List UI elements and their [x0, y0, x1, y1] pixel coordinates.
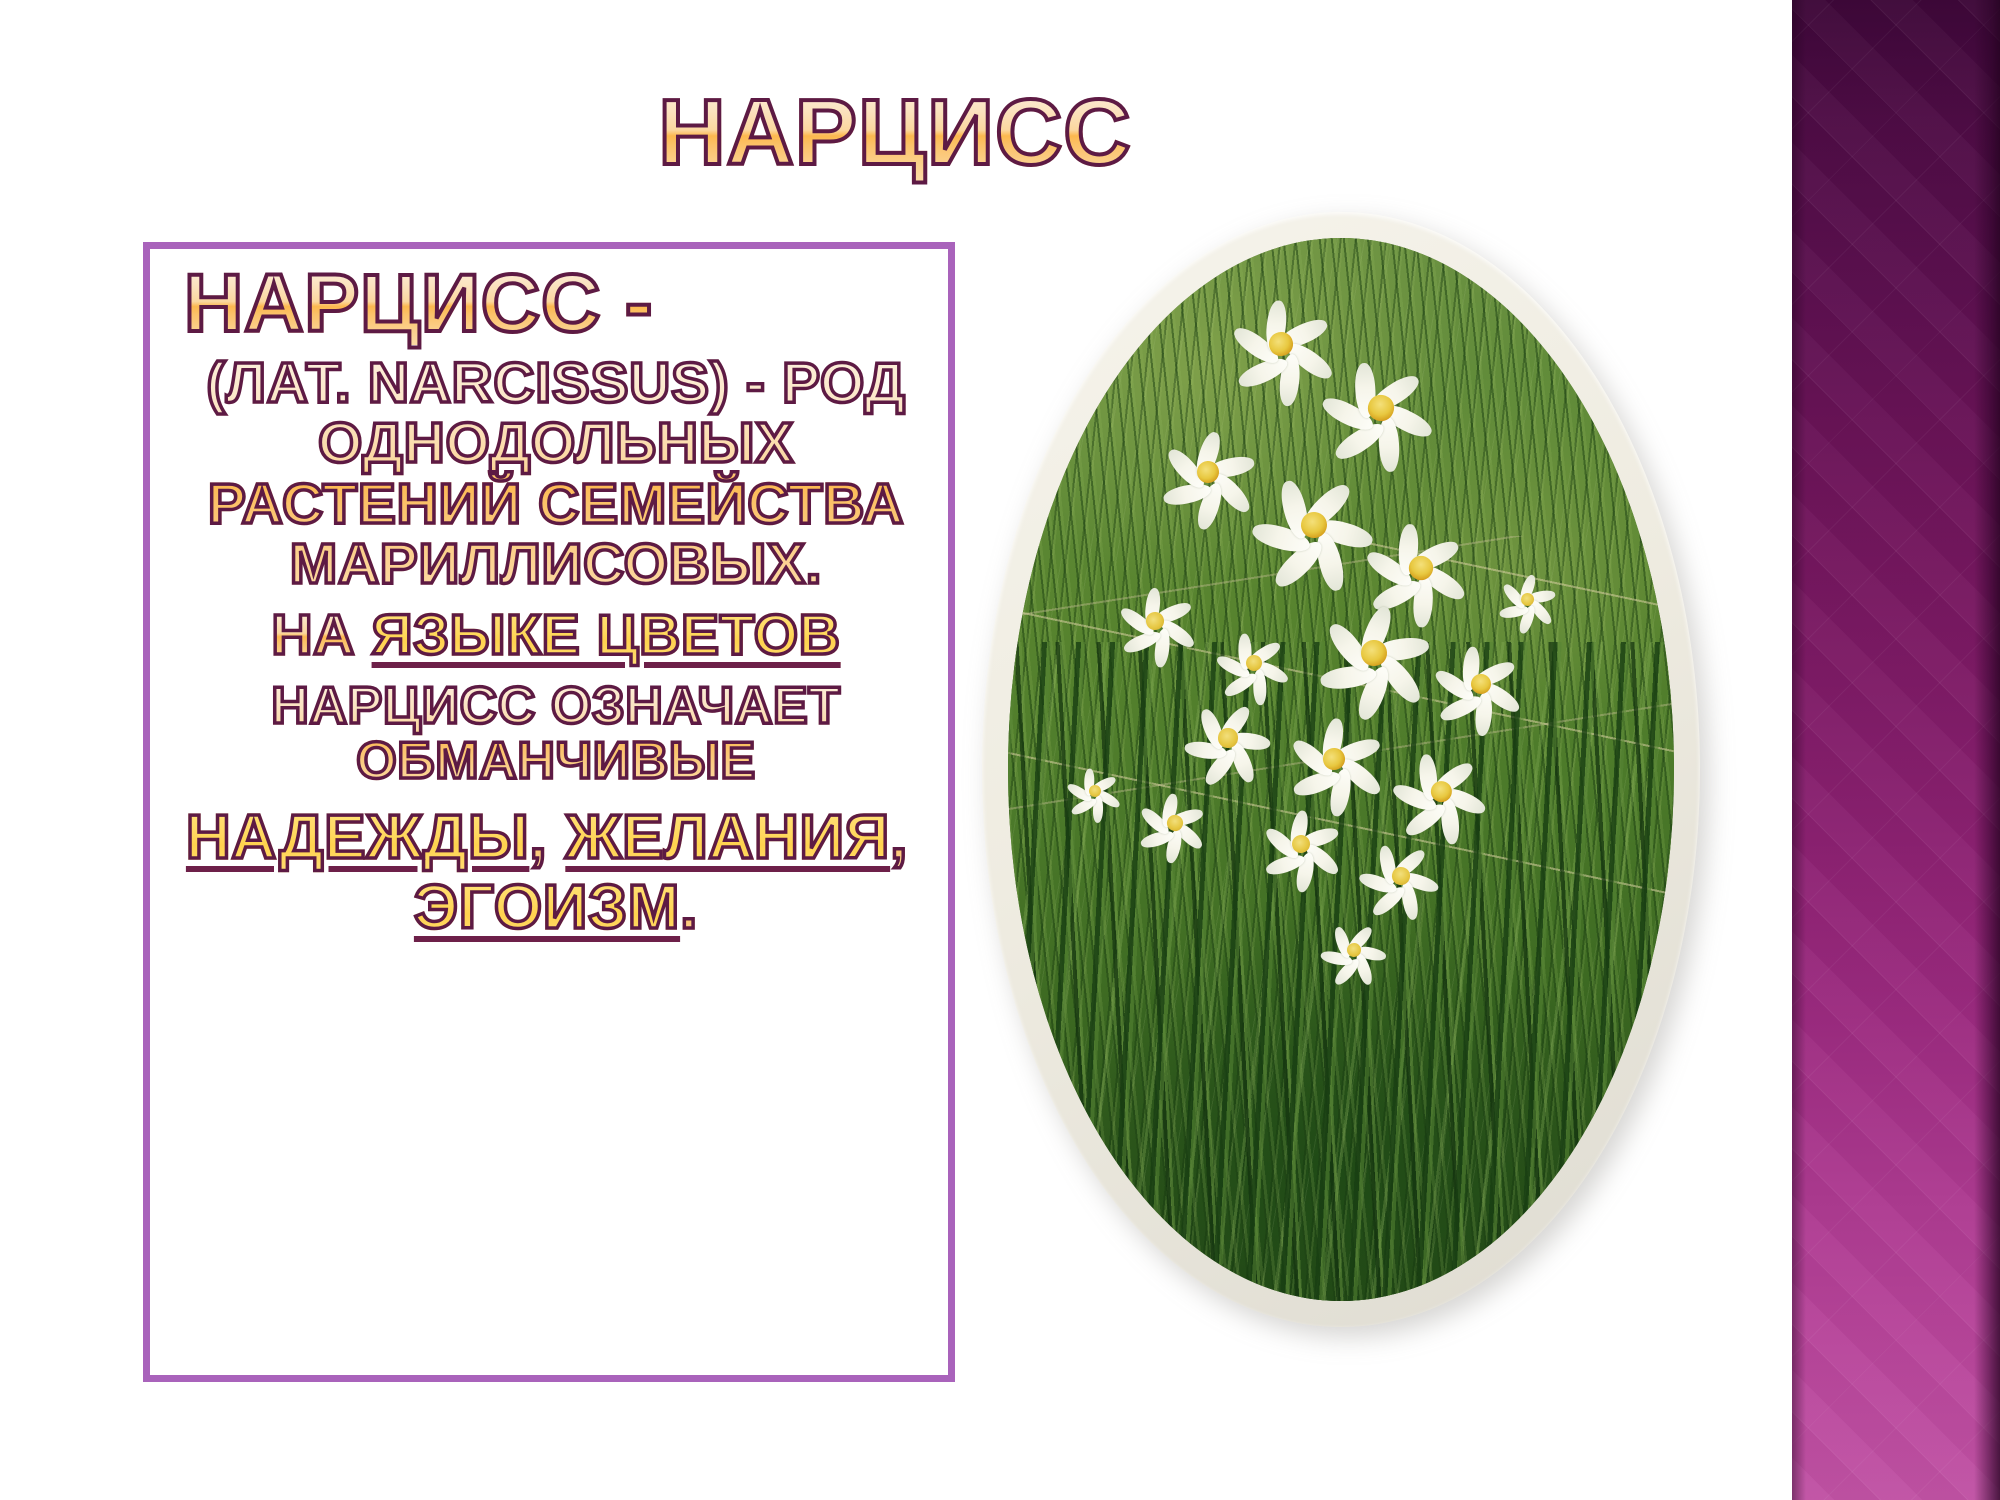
- lead-text: НАРЦИСС -: [184, 263, 653, 345]
- paragraph-lead: НАРЦИСС -: [172, 263, 940, 345]
- links-separator-1: ,: [529, 803, 565, 872]
- sidebar-diamond-pattern: [1792, 0, 2000, 1500]
- links-separator-2: ,: [890, 803, 926, 872]
- narcissus-bloom: [1316, 912, 1393, 989]
- narcissus-bloom: [1494, 566, 1561, 633]
- links-period: .: [680, 873, 698, 942]
- flower-language-prefix: НА: [271, 605, 371, 665]
- paragraph-meaning: НАРЦИСС ОЗНАЧАЕТ ОБМАНЧИВЫЕ: [172, 679, 940, 789]
- narcissus-bloom: [1151, 415, 1265, 529]
- meaning-text: НАРЦИСС ОЗНАЧАЕТ ОБМАНЧИВЫЕ: [172, 679, 940, 789]
- photo-oval-frame: [982, 212, 1700, 1327]
- definition-text: (ЛАТ. NARCISSUS) - РОД ОДНОДОЛЬНЫХ РАСТЕ…: [172, 353, 940, 595]
- content-text-box-inner: НАРЦИСС - (ЛАТ. NARCISSUS) - РОД ОДНОДОЛ…: [150, 249, 962, 942]
- link-flower-language[interactable]: ЯЗЫКЕ ЦВЕТОВ: [372, 605, 841, 665]
- photo-image-clip: [1008, 238, 1674, 1301]
- link-hopes[interactable]: НАДЕЖДЫ: [186, 803, 529, 872]
- sidebar-right-edge-shade: [1974, 0, 2000, 1500]
- flower-photo: [982, 212, 1700, 1327]
- narcissus-bloom: [1179, 689, 1277, 787]
- page-title-text: НАРЦИСС: [658, 84, 1131, 182]
- narcissus-corona: [1217, 727, 1238, 748]
- narcissus-bloom: [1251, 794, 1352, 895]
- paragraph-definition: (ЛАТ. NARCISSUS) - РОД ОДНОДОЛЬНЫХ РАСТЕ…: [172, 353, 940, 595]
- link-desires[interactable]: ЖЕЛАНИЯ: [565, 803, 890, 872]
- decorative-sidebar: [1792, 0, 2000, 1500]
- content-text-box: НАРЦИСС - (ЛАТ. NARCISSUS) - РОД ОДНОДОЛ…: [143, 242, 955, 1382]
- paragraph-links: НАДЕЖДЫ, ЖЕЛАНИЯ, ЭГОИЗМ.: [172, 803, 940, 942]
- paragraph-flower-language: НА ЯЗЫКЕ ЦВЕТОВ: [172, 605, 940, 665]
- sidebar-left-edge-shade: [1792, 0, 1806, 1500]
- link-egoism[interactable]: ЭГОИЗМ: [414, 873, 680, 942]
- slide-canvas: НАРЦИСС НАРЦИСС - (ЛАТ. NARCISSUS) - РОД…: [0, 0, 2000, 1500]
- page-title: НАРЦИСС: [0, 84, 1790, 182]
